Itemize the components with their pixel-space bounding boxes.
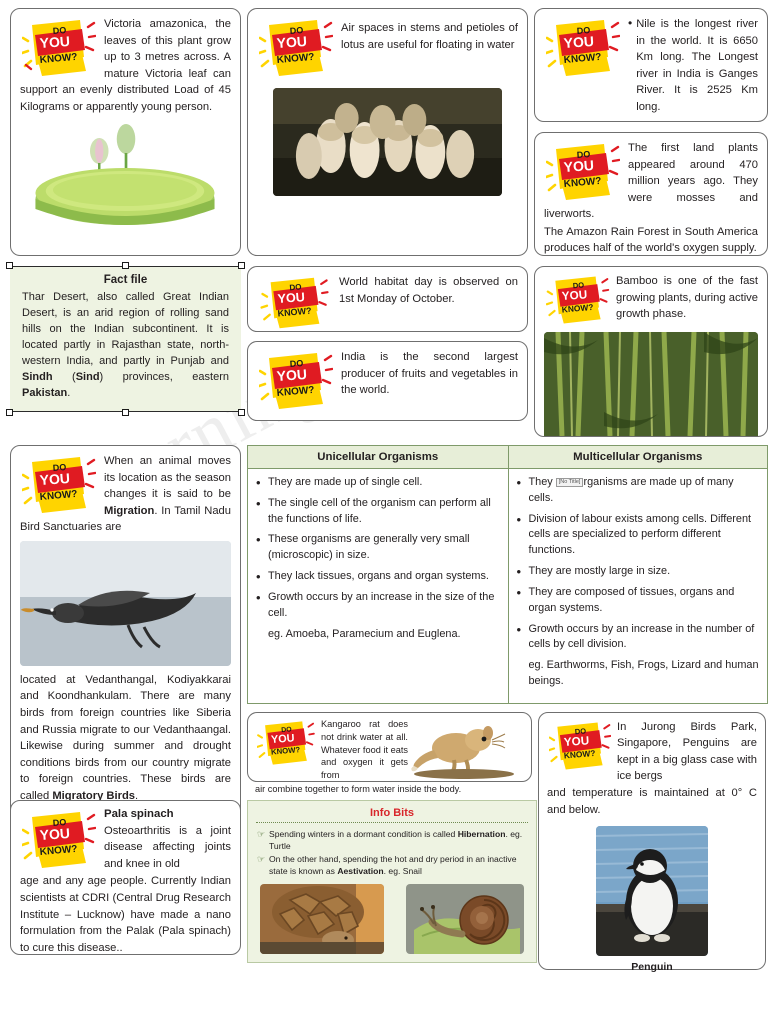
info-bits-line: ☞On the other hand, spending the hot and… xyxy=(256,853,528,877)
do-you-know-badge-icon: DO YOU KNOW? xyxy=(546,274,610,326)
penguin-caption: Penguin xyxy=(547,961,757,973)
list-item: They lack tissues, organs and organ syst… xyxy=(254,569,500,585)
list-item-example: eg. Amoeba, Paramecium and Euglena. xyxy=(254,627,500,643)
table-column-unicellular: Unicellular Organisms They are made up o… xyxy=(248,446,508,703)
panel-amazon-forest-text: The Amazon Rain Forest in South America … xyxy=(544,224,758,257)
column-right: DO YOU KNOW? • Nile is the longest river… xyxy=(534,8,768,256)
panel-kangaroo-text-bottom: air combine together to form water insid… xyxy=(255,783,524,796)
nile-bullet-icon: • xyxy=(628,16,632,115)
panel-bamboo[interactable]: DO YOU KNOW? Bamboo is one of the fast g… xyxy=(534,266,768,437)
list-item: They are composed of tissues, organs and… xyxy=(515,585,760,617)
row-1: DO YOU KNOW? Victoria amazonica, the lea… xyxy=(10,8,758,256)
svg-text:YOU: YOU xyxy=(271,732,295,746)
svg-text:YOU: YOU xyxy=(561,288,587,303)
svg-text:YOU: YOU xyxy=(563,33,594,51)
fact-file-title: Fact file xyxy=(22,274,229,286)
panel-lotus[interactable]: DO YOU KNOW? Air spaces in stems and pet… xyxy=(247,8,528,256)
svg-text:YOU: YOU xyxy=(563,157,594,175)
lotus-stems-photo xyxy=(273,88,502,196)
migratory-stork-photo xyxy=(20,541,231,666)
kangaroo-rat-photo xyxy=(408,718,524,780)
column-middle-4: Info Bits ☞Spending winters in a dormant… xyxy=(247,800,537,963)
panel-first-land-plants[interactable]: DO YOU KNOW? The first land plants appea… xyxy=(534,132,768,256)
info-bits-box: Info Bits ☞Spending winters in a dormant… xyxy=(247,800,537,963)
svg-text:YOU: YOU xyxy=(39,33,70,51)
selection-handle[interactable] xyxy=(238,409,245,416)
do-you-know-badge-icon: DO YOU KNOW? xyxy=(259,275,331,331)
do-you-know-badge-icon: DO YOU KNOW? xyxy=(259,17,333,79)
svg-text:YOU: YOU xyxy=(39,470,70,488)
tortoise-photo xyxy=(260,884,384,954)
content-grid: DO YOU KNOW? Victoria amazonica, the lea… xyxy=(10,8,758,963)
selection-handle[interactable] xyxy=(6,409,13,416)
panel-migration-text-bottom: located at Vedanthangal, Kodiyakkarai an… xyxy=(20,672,231,805)
document-page: Learning DO YOU KNOW? xyxy=(0,0,768,1024)
list-item-example: eg. Earthworms, Fish, Frogs, Lizard and … xyxy=(515,658,760,690)
column-middle-2: DO YOU KNOW? World habitat day is observ… xyxy=(247,266,528,421)
fact-file-box[interactable]: Fact file Thar Desert, also called Great… xyxy=(10,266,241,412)
do-you-know-badge-icon: DO YOU KNOW? xyxy=(22,809,96,871)
selection-handle[interactable] xyxy=(122,262,129,269)
panel-kangaroo-rat[interactable]: DO YOU KNOW? xyxy=(247,712,532,782)
column-left-2: Fact file Thar Desert, also called Great… xyxy=(10,266,241,412)
snail-photo xyxy=(406,884,524,954)
panel-penguin-text-bottom: and temperature is maintained at 0° C an… xyxy=(547,785,757,818)
svg-text:YOU: YOU xyxy=(277,290,305,306)
table-column-multicellular: Multicellular Organisms They [No Title]r… xyxy=(508,446,768,703)
info-bits-title: Info Bits xyxy=(256,807,528,819)
svg-text:YOU: YOU xyxy=(563,734,589,749)
list-item: They [No Title]rganisms are made up of m… xyxy=(515,475,760,507)
column-right-2: DO YOU KNOW? Bamboo is one of the fast g… xyxy=(534,266,768,437)
do-you-know-badge-icon: DO YOU KNOW? xyxy=(546,17,620,79)
row-2: Fact file Thar Desert, also called Great… xyxy=(10,266,758,437)
panel-pala-spinach[interactable]: DO YOU KNOW? Pala spinach Osteoarthritis… xyxy=(10,800,241,955)
do-you-know-badge-icon: DO YOU KNOW? xyxy=(22,454,96,516)
list-item: The single cell of the organism can perf… xyxy=(254,496,500,528)
list-item: They are mostly large in size. xyxy=(515,564,760,580)
selection-handle[interactable] xyxy=(238,262,245,269)
list-item: They are made up of single cell. xyxy=(254,475,500,491)
table-body-unicellular: They are made up of single cell. The sin… xyxy=(248,469,508,655)
panel-pala-text-bottom: age and any age people. Currently Indian… xyxy=(20,873,231,956)
selection-handle[interactable] xyxy=(6,262,13,269)
panel-victoria-amazonica[interactable]: DO YOU KNOW? Victoria amazonica, the lea… xyxy=(10,8,241,256)
list-item: Division of labour exists among cells. D… xyxy=(515,512,760,559)
do-you-know-badge-icon: DO YOU KNOW? xyxy=(259,350,333,412)
do-you-know-badge-icon: DO YOU KNOW? xyxy=(549,720,611,772)
do-you-know-badge-icon: DO YOU KNOW? xyxy=(257,719,315,767)
dotted-divider xyxy=(256,822,528,823)
do-you-know-badge-icon: DO YOU KNOW? xyxy=(546,141,620,203)
panel-penguin[interactable]: DO YOU KNOW? In Jurong Birds Park, Singa… xyxy=(538,712,766,970)
panel-migration[interactable]: DO YOU KNOW? When an animal moves its lo… xyxy=(10,445,241,835)
info-bits-line: ☞Spending winters in a dormant condition… xyxy=(256,828,528,852)
svg-text:YOU: YOU xyxy=(39,825,70,843)
panel-kangaroo-text-top: Kangaroo rat does not drink water at all… xyxy=(321,718,408,782)
column-left-3: DO YOU KNOW? When an animal moves its lo… xyxy=(10,445,241,835)
panel-world-habitat-day[interactable]: DO YOU KNOW? World habitat day is observ… xyxy=(247,266,528,332)
panel-fruits-vegetables[interactable]: DO YOU KNOW? India is the second largest… xyxy=(247,341,528,421)
column-middle: DO YOU KNOW? Air spaces in stems and pet… xyxy=(247,8,528,256)
column-left-4: DO YOU KNOW? Pala spinach Osteoarthritis… xyxy=(10,800,241,955)
victoria-amazonica-leaf-photo xyxy=(20,121,231,233)
selection-handle[interactable] xyxy=(122,409,129,416)
penguin-photo xyxy=(596,826,708,956)
table-header-unicellular: Unicellular Organisms xyxy=(248,446,508,469)
panel-nile-river[interactable]: DO YOU KNOW? • Nile is the longest river… xyxy=(534,8,768,122)
pointing-hand-icon: ☞ xyxy=(257,828,265,841)
pointing-hand-icon: ☞ xyxy=(257,853,265,866)
svg-text:YOU: YOU xyxy=(276,366,307,384)
column-left: DO YOU KNOW? Victoria amazonica, the lea… xyxy=(10,8,241,256)
no-title-artifact: [No Title] xyxy=(556,478,584,487)
list-item: Growth occurs by an increase in the size… xyxy=(254,590,500,622)
table-body-multicellular: They [No Title]rganisms are made up of m… xyxy=(509,469,768,703)
svg-text:YOU: YOU xyxy=(276,33,307,51)
panel-nile-text: Nile is the longest river in the world. … xyxy=(636,16,758,115)
fact-file-text: Thar Desert, also called Great Indian De… xyxy=(22,290,229,402)
do-you-know-badge-icon: DO YOU KNOW? xyxy=(22,17,96,79)
bamboo-grove-photo xyxy=(544,332,758,460)
comparison-table: Unicellular Organisms They are made up o… xyxy=(247,445,768,704)
list-item: These organisms are generally very small… xyxy=(254,532,500,564)
list-item: Growth occurs by an increase in the numb… xyxy=(515,622,760,654)
